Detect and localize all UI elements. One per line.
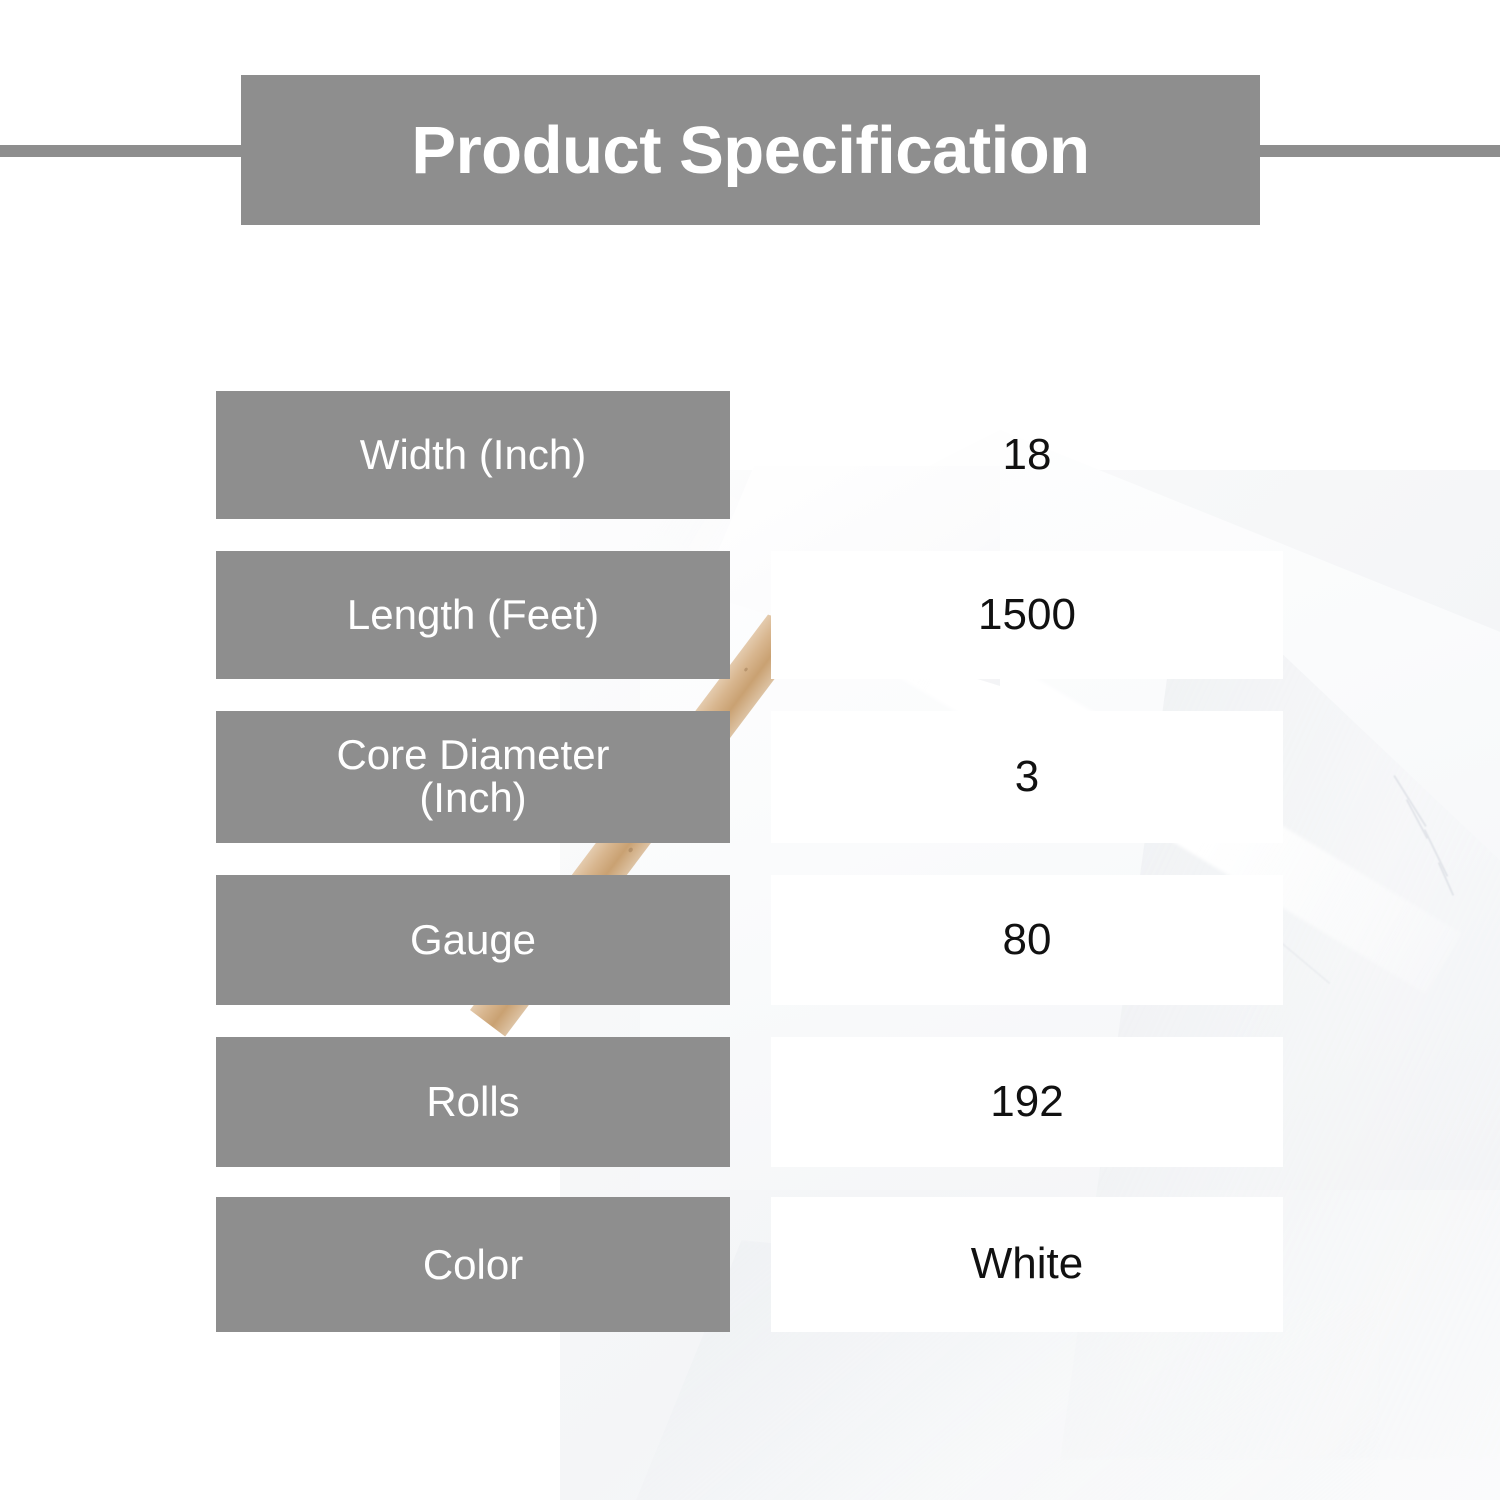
spec-value-core-diameter: 3 [771, 711, 1283, 843]
specification-table: Width (Inch) 18 Length (Feet) 1500 Core … [0, 0, 1500, 1500]
table-row: Color White [216, 1197, 1283, 1332]
spec-label-width: Width (Inch) [216, 391, 730, 519]
spec-value-length: 1500 [771, 551, 1283, 679]
spec-label-length: Length (Feet) [216, 551, 730, 679]
spec-value-gauge: 80 [771, 875, 1283, 1005]
table-row: Rolls 192 [216, 1037, 1283, 1167]
product-specification-graphic: Product Specification Width (Inch) 18 Le… [0, 0, 1500, 1500]
spec-value-color: White [771, 1197, 1283, 1332]
spec-value-width: 18 [771, 391, 1283, 519]
spec-label-core-diameter: Core Diameter (Inch) [216, 711, 730, 843]
table-row: Core Diameter (Inch) 3 [216, 711, 1283, 843]
spec-label-color: Color [216, 1197, 730, 1332]
table-row: Width (Inch) 18 [216, 391, 1283, 519]
spec-value-rolls: 192 [771, 1037, 1283, 1167]
table-row: Length (Feet) 1500 [216, 551, 1283, 679]
spec-label-gauge: Gauge [216, 875, 730, 1005]
spec-label-rolls: Rolls [216, 1037, 730, 1167]
table-row: Gauge 80 [216, 875, 1283, 1005]
